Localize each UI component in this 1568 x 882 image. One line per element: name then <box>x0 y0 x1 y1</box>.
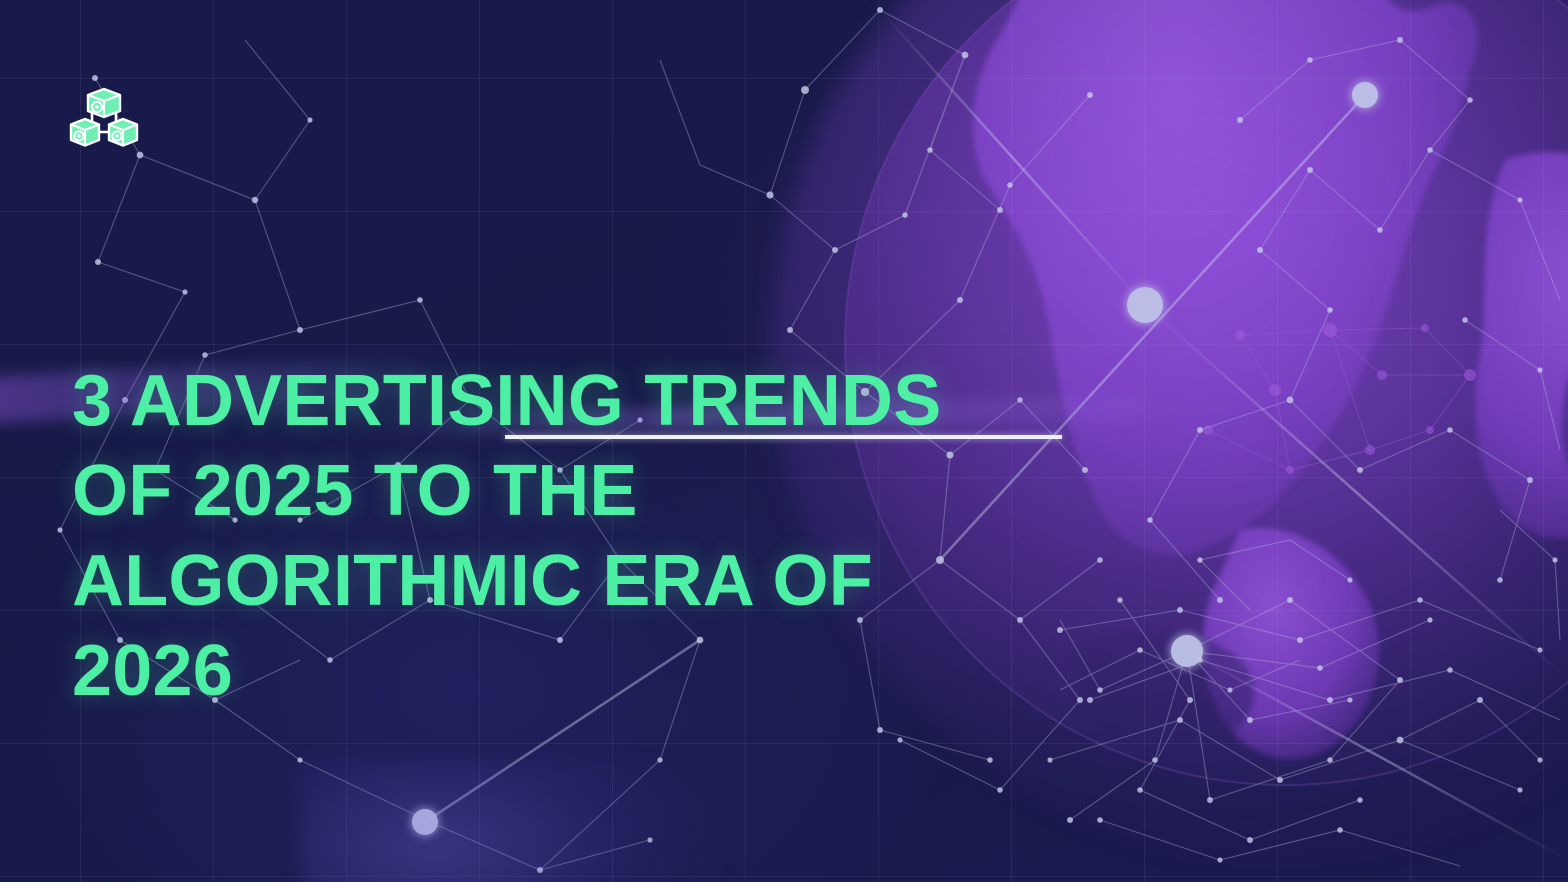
hero-banner: 3 ADVERTISING TRENDS OF 2025 TO THE ALGO… <box>0 0 1568 882</box>
cube-bottom-right <box>109 119 137 146</box>
page-title: 3 ADVERTISING TRENDS OF 2025 TO THE ALGO… <box>72 356 1052 716</box>
title-underline-rule <box>505 435 1062 439</box>
purple-glow-bottom-left <box>300 760 720 882</box>
cube-top <box>88 89 120 117</box>
blockchain-cubes-icon[interactable] <box>68 82 140 154</box>
cube-bottom-left <box>71 119 99 146</box>
